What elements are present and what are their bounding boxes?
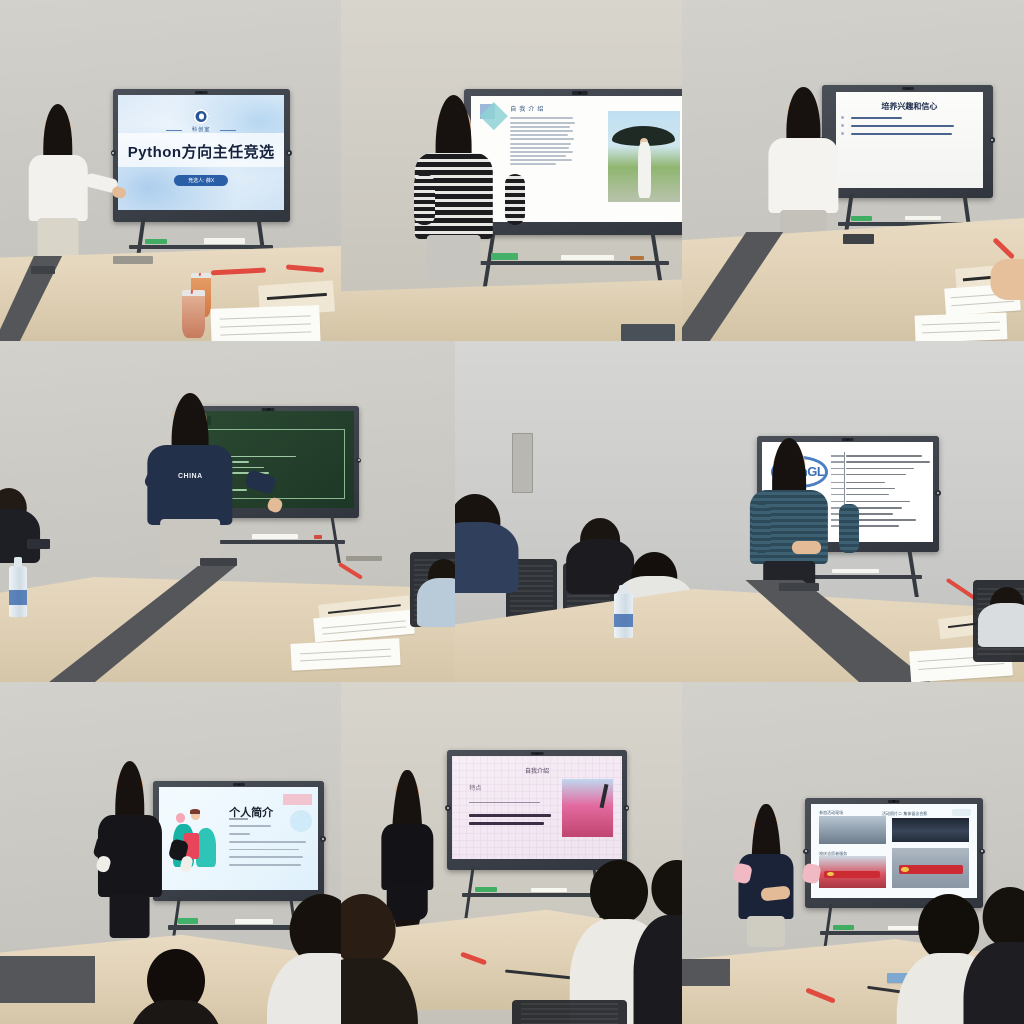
whiteboard-camera-icon (572, 91, 588, 95)
presenter-figure (788, 95, 819, 238)
panel-top-right: 培养兴趣和信心 (682, 0, 1024, 341)
presenter-figure (44, 113, 71, 256)
whiteboard-side-button-right[interactable] (320, 836, 325, 842)
office-chair-front[interactable] (512, 1000, 628, 1024)
whiteboard-screen: 参加活动现场 校庆志愿者服务 活动照片二·集体留念合影 (811, 804, 977, 898)
photo-caption-3: 活动照片二·集体留念合影 (882, 811, 927, 817)
phone-in-hand[interactable] (27, 539, 50, 549)
audience-member-front-2 (290, 894, 341, 990)
presenter-figure (396, 778, 420, 915)
audience-member-front-1 (147, 949, 205, 1024)
table-tablet[interactable] (113, 256, 154, 264)
red-banner (824, 871, 880, 878)
audience-hand (1000, 259, 1024, 300)
award-medal-icon (194, 109, 209, 124)
audience-member-front-2 (983, 887, 1024, 976)
slide-corner-logo (952, 809, 970, 816)
audience-member-2 (580, 518, 620, 552)
whiteboard-side-button-left[interactable] (803, 849, 809, 854)
panel-bottom-center: 自我介绍 特点 (341, 682, 682, 1024)
slide-bullets (851, 117, 969, 141)
slide-subhead: 特点 (469, 783, 481, 792)
interactive-whiteboard: 参加活动现场 校庆志愿者服务 活动照片二·集体留念合影 (805, 798, 983, 907)
whiteboard-side-button-right[interactable] (990, 137, 995, 143)
water-bottle (9, 566, 27, 617)
whiteboard-camera-icon (262, 408, 275, 411)
slide-title: 培养兴趣和信心 (836, 101, 983, 112)
panel-top-center: 自我介绍 (341, 0, 682, 341)
papers-stack (211, 305, 321, 341)
interactive-whiteboard: 培养兴趣和信心 (822, 85, 993, 198)
audience-member-1 (455, 494, 501, 538)
whiteboard-side-button-left[interactable] (445, 805, 451, 811)
whiteboard-side-button-right[interactable] (979, 849, 985, 854)
presenter-figure (754, 812, 778, 942)
audience-member-4 (990, 587, 1024, 614)
table-device[interactable] (621, 324, 676, 341)
presenter-figure (436, 106, 470, 277)
papers-2 (914, 312, 1007, 341)
presenter-figure: CHINA (173, 402, 207, 555)
whiteboard-camera-icon (841, 438, 854, 441)
slide-self-intro-pink: 自我介绍 特点 (452, 756, 621, 859)
interactive-whiteboard: 自我介绍 (464, 89, 682, 236)
interactive-whiteboard: 自我介绍 特点 (447, 750, 628, 870)
photo-collage: 科创室 Python方向主任竞选 竞选人: 薛X (0, 0, 1024, 1024)
slide-personal-intro: 个人简介 (159, 787, 319, 890)
slide-photo-collage: 参加活动现场 校庆志愿者服务 活动照片二·集体留念合影 (811, 804, 977, 898)
whiteboard-side-button-right[interactable] (935, 490, 941, 496)
whiteboard-screen: 培养兴趣和信心 (836, 92, 983, 188)
slide-org-label: 科创室 (118, 126, 284, 133)
table-cable-trough (0, 956, 95, 1004)
slide-photo-1 (819, 816, 886, 844)
slide-self-introduction: 自我介绍 (471, 96, 682, 222)
interactive-whiteboard: 科创室 Python方向主任竞选 竞选人: 薛X (113, 89, 290, 222)
water-bottle (614, 593, 632, 637)
slide-highlight-lines (469, 814, 554, 830)
panel-bottom-right: 参加活动现场 校庆志愿者服务 活动照片二·集体留念合影 (682, 682, 1024, 1024)
bubble-tea-cup-2 (182, 290, 204, 338)
whiteboard-screen: 自我介绍 特点 (452, 756, 621, 859)
audience-member-front-3 (651, 860, 682, 949)
table-socket[interactable] (200, 558, 236, 567)
presenter-figure (116, 771, 143, 928)
whiteboard-camera-icon (531, 752, 544, 755)
table-socket[interactable] (31, 266, 55, 275)
slide-title: Python方向主任竞选 (118, 141, 284, 162)
slide-candidate-pill: 竞选人: 薛X (174, 175, 228, 186)
whiteboard-camera-icon (888, 800, 900, 803)
wall-electrical-panel (512, 433, 533, 493)
panel-bottom-left: 个人简介 (0, 682, 341, 1024)
slide-photo-2 (819, 856, 886, 888)
audience-member-left (0, 488, 27, 522)
red-banner-group (899, 865, 963, 874)
tablet-on-table[interactable] (346, 556, 382, 561)
whiteboard-screen: 科创室 Python方向主任竞选 竞选人: 薛X (118, 95, 284, 209)
slide-photo-4 (892, 848, 969, 888)
whiteboard-stand (457, 867, 610, 918)
presenter-figure (774, 447, 805, 590)
slide-title: 自我介绍 (452, 766, 621, 775)
whiteboard-camera-icon (233, 783, 245, 786)
panel-middle-right: OpenGL Unity (455, 341, 1024, 682)
audience-member-3 (631, 552, 677, 590)
table-socket[interactable] (843, 234, 874, 244)
slide-photo-3 (892, 818, 969, 842)
slide-heading: 自我介绍 (510, 104, 546, 113)
whiteboard-screen: 个人简介 (159, 787, 319, 890)
slide-portrait-photo (608, 111, 680, 202)
table-socket[interactable] (779, 583, 819, 591)
audience-member-right (428, 559, 455, 590)
slide-event-photo (562, 779, 613, 837)
whiteboard-screen: 自我介绍 (471, 96, 682, 222)
audience-member-front-1 (341, 894, 396, 997)
slide-cultivate-interest: 培养兴趣和信心 (836, 92, 983, 188)
whiteboard-camera-icon (902, 87, 914, 90)
slide-python-election: 科创室 Python方向主任竞选 竞选人: 薛X (118, 95, 284, 209)
panel-middle-left: CHINA (0, 341, 455, 682)
whiteboard-camera-icon (195, 91, 207, 94)
slide-body-text (510, 117, 575, 167)
slide-body-text (229, 825, 309, 872)
panel-top-left: 科创室 Python方向主任竞选 竞选人: 薛X (0, 0, 341, 341)
table-cable-trough (682, 959, 730, 986)
